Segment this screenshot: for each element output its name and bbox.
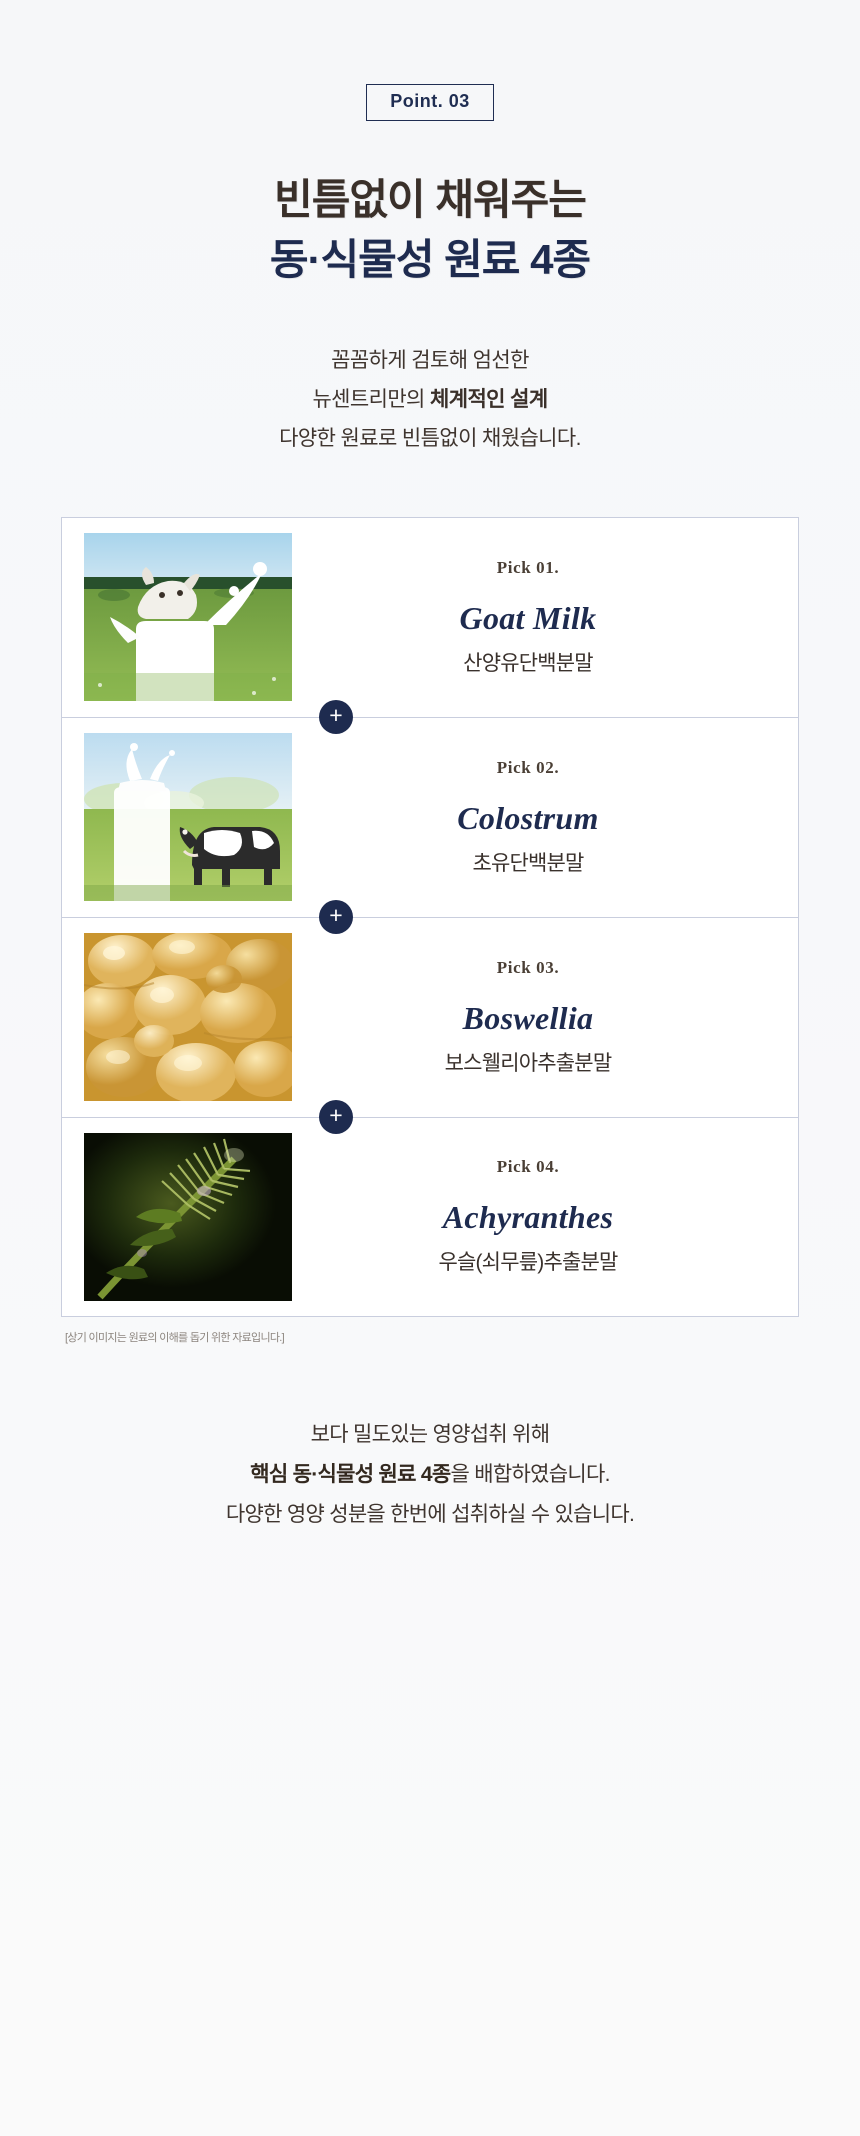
- divider-line: [61, 1117, 799, 1118]
- ingredient-card-text: Pick 02. Colostrum 초유단백분말: [292, 758, 776, 877]
- subtitle-line-2-normal: 뉴센트리만의: [312, 388, 430, 411]
- subtitle-line-2-bold: 체계적인 설계: [430, 388, 548, 411]
- ingredient-english-name: Colostrum: [292, 800, 764, 837]
- page-title: 빈틈없이 채워주는 동·식물성 원료 4종: [0, 173, 860, 287]
- headline-line-1: 빈틈없이 채워주는: [0, 173, 860, 227]
- ingredient-card-text: Pick 04. Achyranthes 우슬(쇠무릎)추출분말: [292, 1157, 776, 1276]
- ingredient-image-colostrum: [84, 733, 292, 901]
- ingredient-korean-name: 산양유단백분말: [292, 647, 764, 677]
- plus-symbol: +: [329, 704, 342, 727]
- ingredient-korean-name: 초유단백분말: [292, 847, 764, 877]
- footer-line-2: 핵심 동·식물성 원료 4종을 배합하였습니다.: [0, 1455, 860, 1495]
- divider-line: [61, 717, 799, 718]
- image-disclaimer-caption: [상기 이미지는 원료의 이해를 돕기 위한 자료입니다.]: [61, 1329, 799, 1345]
- ingredient-card-text: Pick 01. Goat Milk 산양유단백분말: [292, 558, 776, 677]
- pick-label: Pick 01.: [292, 558, 764, 578]
- ingredient-card-list: Pick 01. Goat Milk 산양유단백분말 +: [61, 517, 799, 1317]
- point-badge: Point. 03: [366, 84, 494, 121]
- ingredient-english-name: Goat Milk: [292, 600, 764, 637]
- plus-icon: +: [319, 900, 353, 934]
- headline-line-2: 동·식물성 원료 4종: [0, 233, 860, 287]
- ingredient-english-name: Boswellia: [292, 1000, 764, 1037]
- plus-icon: +: [319, 700, 353, 734]
- pick-label: Pick 03.: [292, 958, 764, 978]
- ingredient-card[interactable]: Pick 04. Achyranthes 우슬(쇠무릎)추출분말: [61, 1117, 799, 1317]
- ingredient-image-goat-milk: [84, 533, 292, 701]
- footer-line-2-bold: 핵심 동·식물성 원료 4종: [250, 1463, 450, 1486]
- subtitle-paragraph: 꼼꼼하게 검토해 엄선한 뉴센트리만의 체계적인 설계 다양한 원료로 빈틈없이…: [0, 342, 860, 459]
- ingredient-korean-name: 보스웰리아추출분말: [292, 1047, 764, 1077]
- plus-symbol: +: [329, 904, 342, 927]
- footer-line-2-normal: 을 배합하였습니다.: [451, 1463, 610, 1486]
- point-badge-container: Point. 03: [0, 0, 860, 121]
- ingredient-korean-name: 우슬(쇠무릎)추출분말: [292, 1246, 764, 1276]
- divider-line: [61, 917, 799, 918]
- ingredient-image-achyranthes: [84, 1133, 292, 1301]
- plus-symbol: +: [329, 1104, 342, 1127]
- subtitle-line-3: 다양한 원료로 빈틈없이 채웠습니다.: [0, 420, 860, 459]
- ingredient-card[interactable]: Pick 03. Boswellia 보스웰리아추출분말: [61, 917, 799, 1117]
- footer-line-3: 다양한 영양 성분을 한번에 섭취하실 수 있습니다.: [0, 1495, 860, 1535]
- ingredient-card[interactable]: Pick 02. Colostrum 초유단백분말: [61, 717, 799, 917]
- pick-label: Pick 04.: [292, 1157, 764, 1177]
- plus-icon: +: [319, 1100, 353, 1134]
- pick-label: Pick 02.: [292, 758, 764, 778]
- subtitle-line-2: 뉴센트리만의 체계적인 설계: [0, 381, 860, 420]
- footer-line-1: 보다 밀도있는 영양섭취 위해: [0, 1415, 860, 1455]
- ingredient-card-text: Pick 03. Boswellia 보스웰리아추출분말: [292, 958, 776, 1077]
- ingredient-english-name: Achyranthes: [292, 1199, 764, 1236]
- ingredient-image-boswellia: [84, 933, 292, 1101]
- footer-paragraph: 보다 밀도있는 영양섭취 위해 핵심 동·식물성 원료 4종을 배합하였습니다.…: [0, 1415, 860, 1535]
- ingredient-card[interactable]: Pick 01. Goat Milk 산양유단백분말: [61, 517, 799, 717]
- subtitle-line-1: 꼼꼼하게 검토해 엄선한: [0, 342, 860, 381]
